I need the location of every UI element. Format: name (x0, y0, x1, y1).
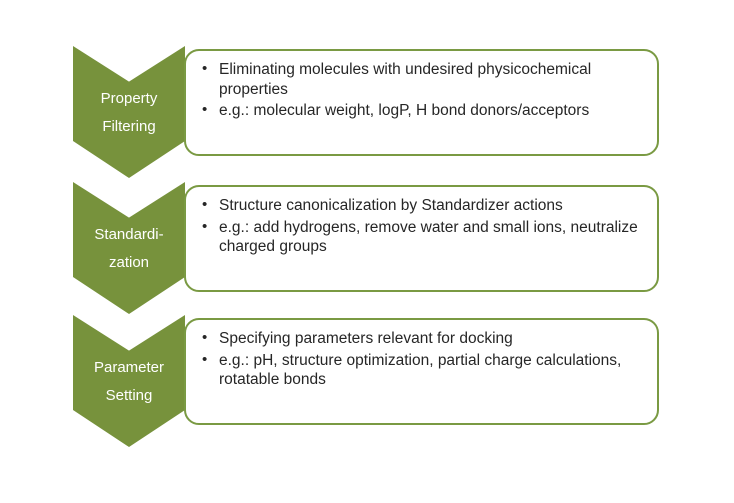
list-item: e.g.: pH, structure optimization, partia… (200, 351, 641, 390)
list-item: e.g.: add hydrogens, remove water and sm… (200, 218, 641, 257)
chevron-shape-standardization (73, 182, 185, 314)
chevron-shape-parameter-setting (73, 315, 185, 447)
content-box-parameter-setting: Specifying parameters relevant for docki… (184, 318, 659, 425)
list-item: Eliminating molecules with undesired phy… (200, 60, 641, 99)
bullet-list-standardization: Structure canonicalization by Standardiz… (186, 187, 657, 257)
content-box-property-filtering: Eliminating molecules with undesired phy… (184, 49, 659, 156)
chevron-shape-property-filtering (73, 46, 185, 178)
content-box-standardization: Structure canonicalization by Standardiz… (184, 185, 659, 292)
bullet-list-parameter-setting: Specifying parameters relevant for docki… (186, 320, 657, 390)
process-flow-diagram: Property Filtering Eliminating molecules… (0, 0, 734, 503)
list-item: e.g.: molecular weight, logP, H bond don… (200, 101, 641, 121)
list-item: Specifying parameters relevant for docki… (200, 329, 641, 349)
process-stage-standardization: Standardi- zation Structure canonicaliza… (0, 164, 734, 304)
process-stage-property-filtering: Property Filtering Eliminating molecules… (0, 28, 734, 168)
bullet-list-property-filtering: Eliminating molecules with undesired phy… (186, 51, 657, 121)
list-item: Structure canonicalization by Standardiz… (200, 196, 641, 216)
process-stage-parameter-setting: Parameter Setting Specifying parameters … (0, 297, 734, 437)
